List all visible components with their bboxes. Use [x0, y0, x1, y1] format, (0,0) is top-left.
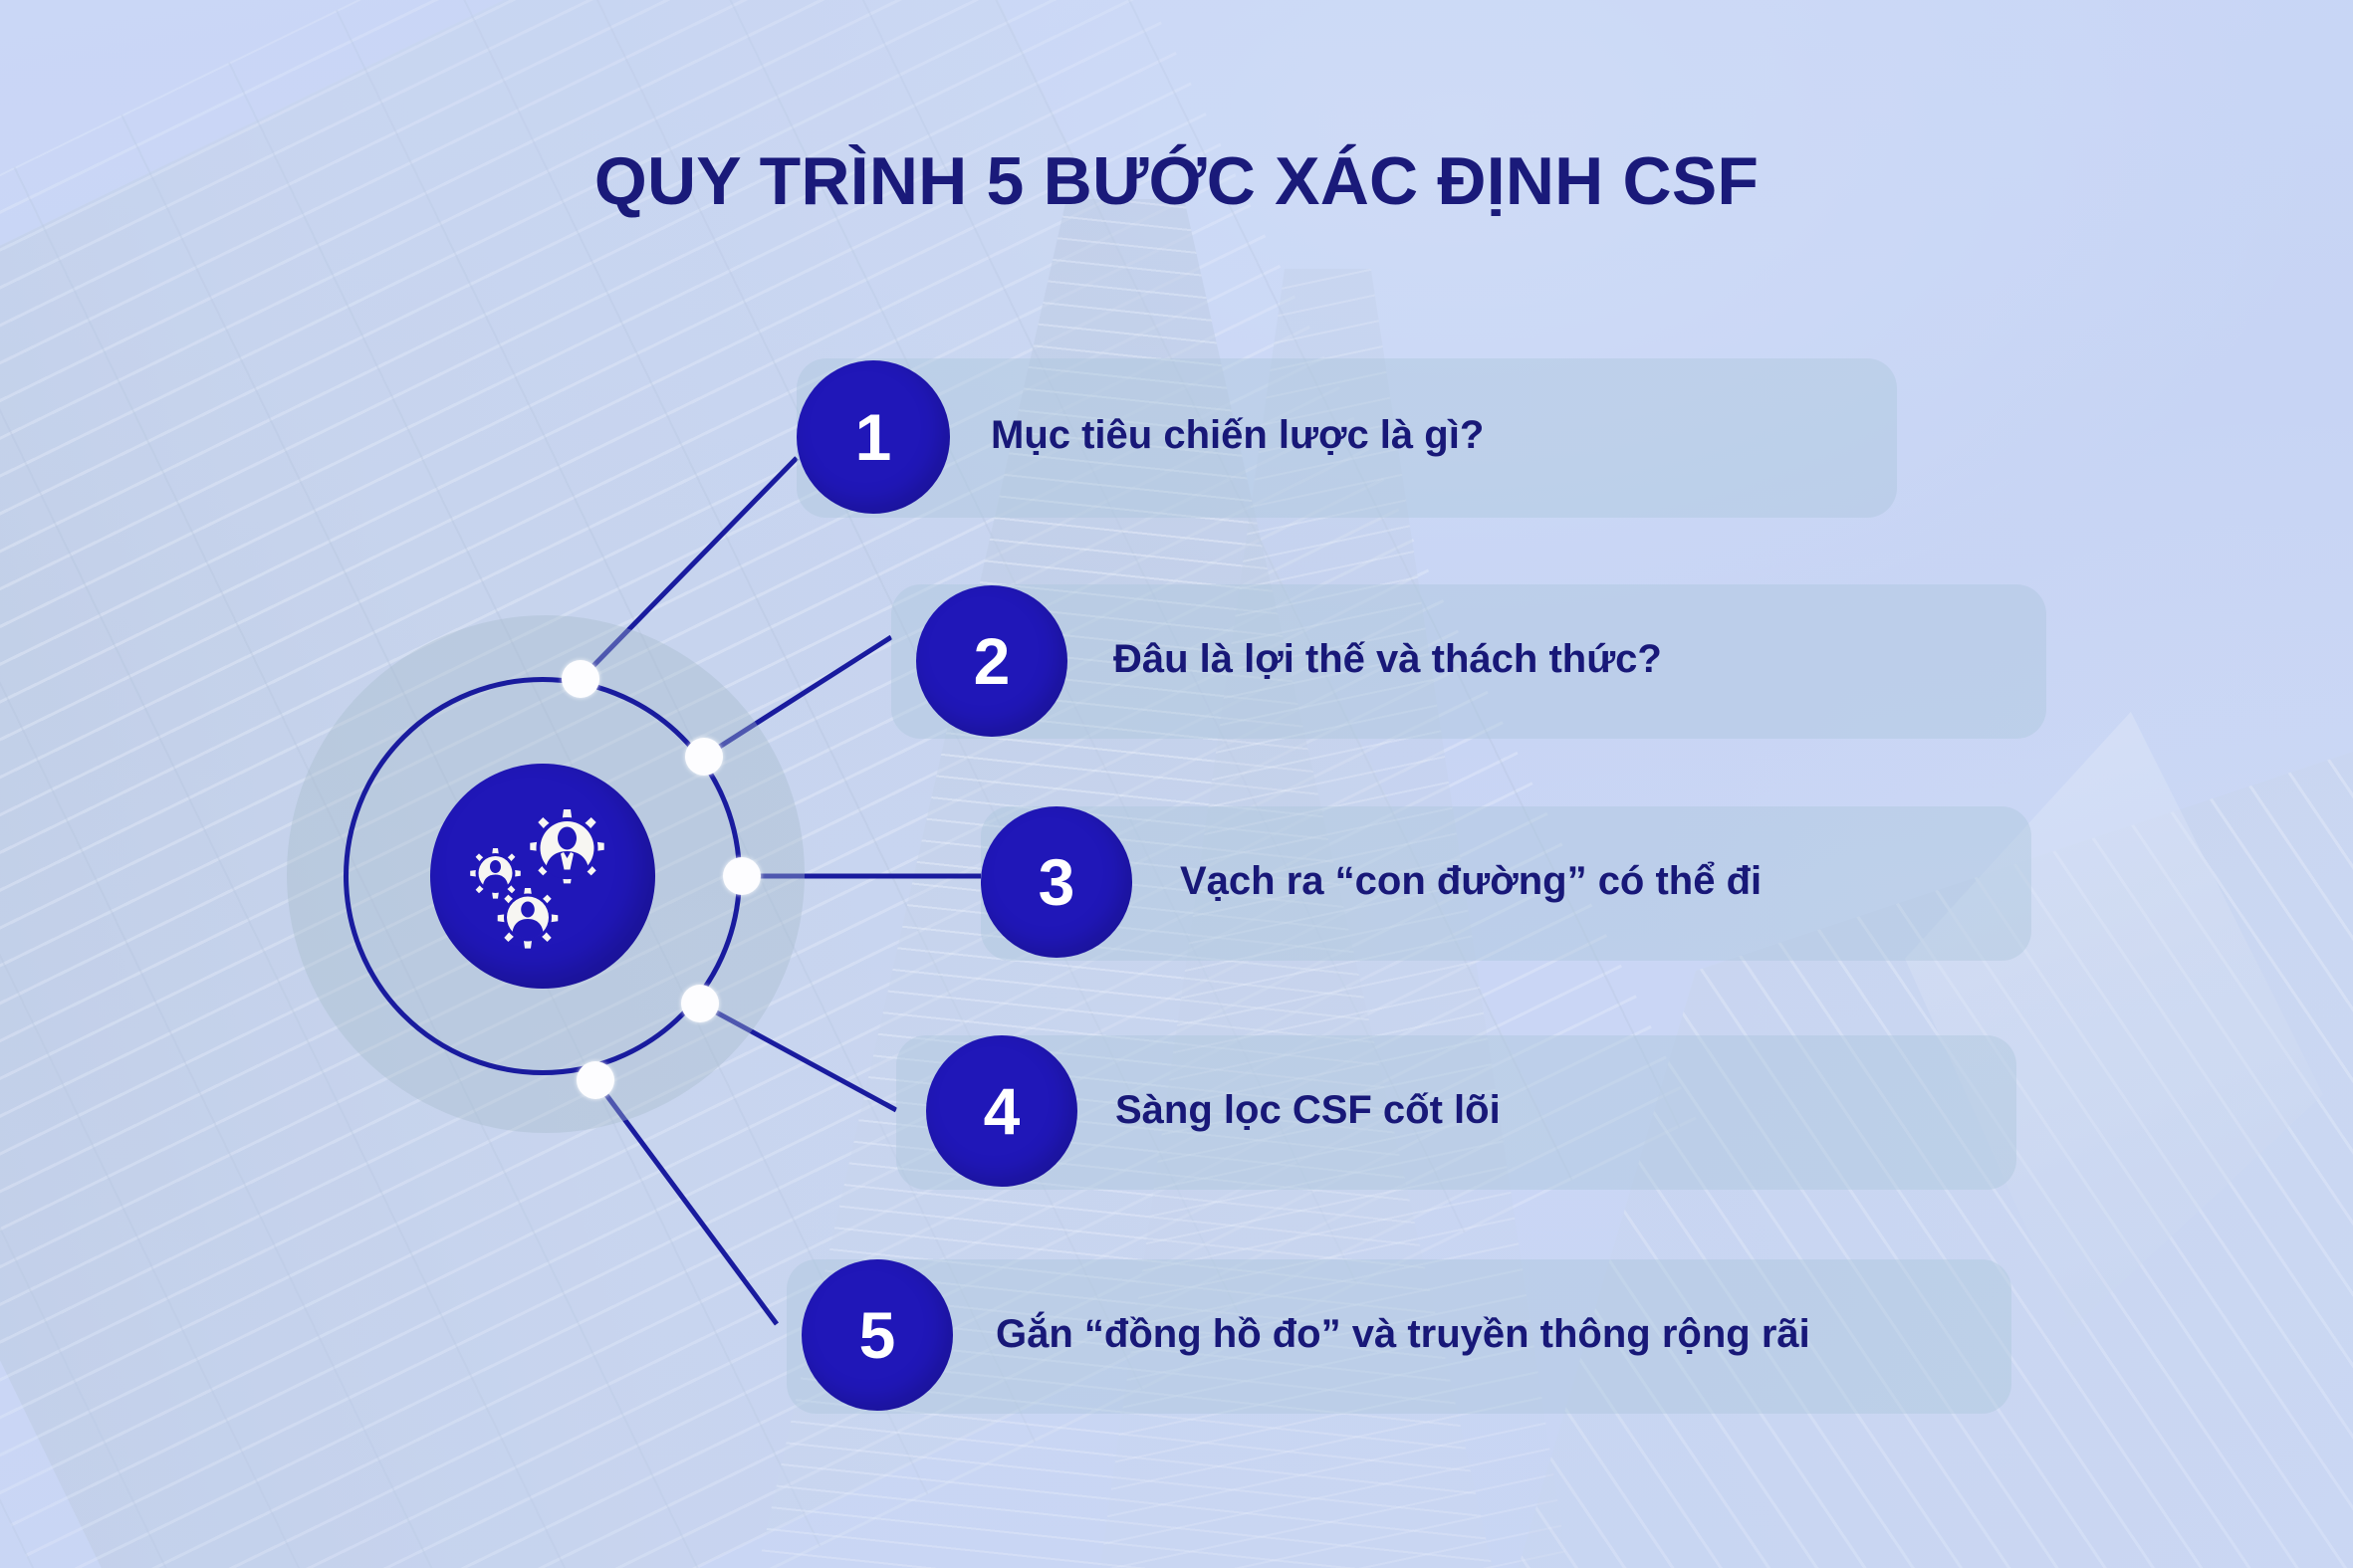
step-number-4: 4: [926, 1035, 1077, 1187]
hub-core-circle: [430, 764, 655, 989]
step-label-3: Vạch ra “con đường” có thể đi: [1180, 861, 1762, 901]
step-label-2: Đâu là lợi thế và thách thức?: [1113, 639, 1662, 679]
step-label-4: Sàng lọc CSF cốt lõi: [1115, 1090, 1501, 1130]
hub-node-2[interactable]: [685, 738, 723, 776]
hub-node-5[interactable]: [577, 1061, 614, 1099]
infographic-canvas: QUY TRÌNH 5 BƯỚC XÁC ĐỊNH CSF: [0, 0, 2353, 1568]
gears-people-icon: [456, 793, 631, 963]
step-number-3: 3: [981, 806, 1132, 958]
step-number-1: 1: [797, 360, 950, 514]
step-number-5: 5: [802, 1259, 953, 1411]
hub-node-3[interactable]: [723, 857, 761, 895]
hub-node-1[interactable]: [562, 660, 599, 698]
hub-node-4[interactable]: [681, 985, 719, 1022]
step-label-1: Mục tiêu chiến lược là gì?: [991, 415, 1484, 455]
page-title: QUY TRÌNH 5 BƯỚC XÁC ĐỊNH CSF: [0, 147, 2353, 215]
step-number-2: 2: [916, 585, 1067, 737]
step-label-5: Gắn “đồng hồ đo” và truyền thông rộng rã…: [996, 1314, 1810, 1354]
